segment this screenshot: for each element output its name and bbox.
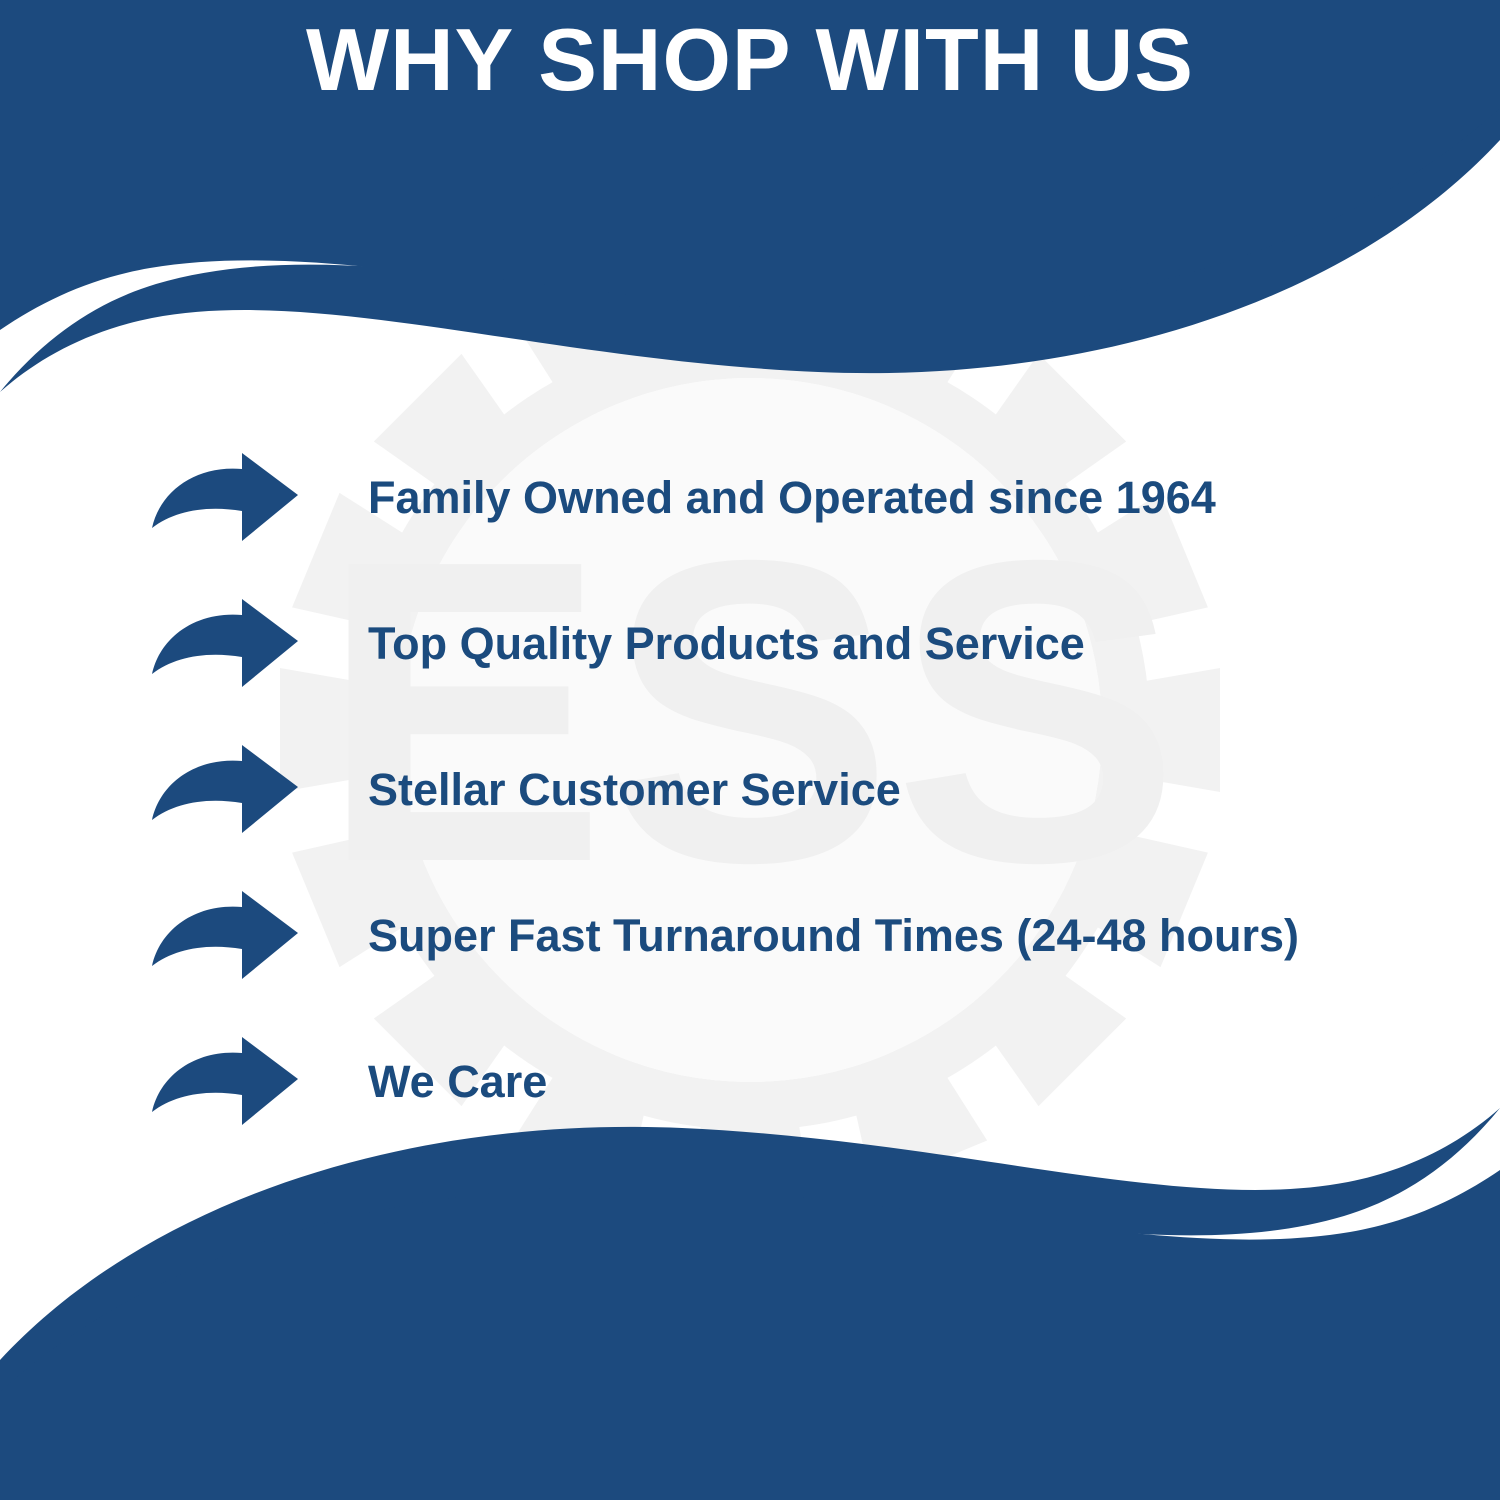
benefits-list: Family Owned and Operated since 1964 Top… (150, 425, 1470, 1155)
list-item-label: Super Fast Turnaround Times (24-48 hours… (368, 911, 1299, 961)
list-item: Super Fast Turnaround Times (24-48 hours… (150, 863, 1470, 1009)
footer-wave-group (0, 1108, 1500, 1500)
list-item-label: Stellar Customer Service (368, 765, 901, 815)
list-item-label: Family Owned and Operated since 1964 (368, 473, 1216, 523)
curved-arrow-right-icon (150, 891, 300, 981)
list-item: Top Quality Products and Service (150, 571, 1470, 717)
curved-arrow-right-icon (150, 453, 300, 543)
list-item: We Care (150, 1009, 1470, 1155)
list-item: Stellar Customer Service (150, 717, 1470, 863)
page-title: WHY SHOP WITH US (0, 14, 1500, 106)
why-shop-with-us-poster: ESS WHY SHOP WITH US Family Owned and Op… (0, 0, 1500, 1500)
list-item: Family Owned and Operated since 1964 (150, 425, 1470, 571)
list-item-label: Top Quality Products and Service (368, 619, 1085, 669)
curved-arrow-right-icon (150, 745, 300, 835)
curved-arrow-right-icon (150, 599, 300, 689)
list-item-label: We Care (368, 1057, 547, 1107)
curved-arrow-right-icon (150, 1037, 300, 1127)
